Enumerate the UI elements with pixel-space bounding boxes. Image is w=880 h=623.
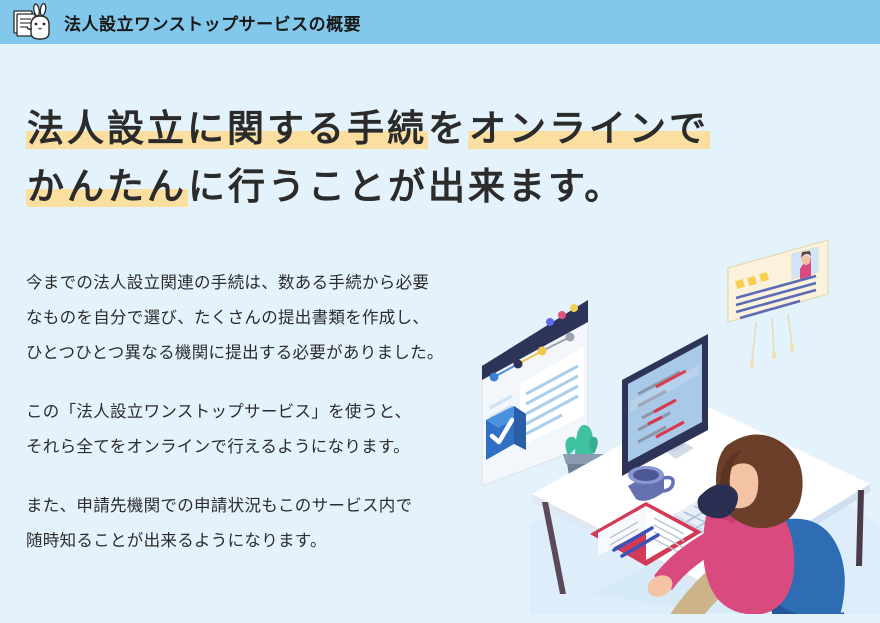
headline-plain-1: を <box>428 108 468 149</box>
header-title: 法人設立ワンストップサービスの概要 <box>64 10 361 35</box>
paragraph-3: また、申請先機関での申請状況もこのサービス内で 随時知ることが出来るようになりま… <box>26 489 496 559</box>
headline-line-1: 法人設立に関する手続をオンラインで <box>26 100 726 158</box>
paragraph-2-line-2: それら全てをオンラインで行えるようになります。 <box>26 430 496 465</box>
paragraph-3-line-2: 随時知ることが出来るようになります。 <box>26 524 496 559</box>
paragraph-1-line-1: 今までの法人設立関連の手続は、数ある手続から必要 <box>26 266 496 301</box>
paragraph-2: この「法人設立ワンストップサービス」を使うと、 それら全てをオンラインで行えるよ… <box>26 395 496 465</box>
headline-highlight-2: オンラインで <box>468 108 710 149</box>
isometric-woman-at-desk-illustration <box>470 194 880 614</box>
rabbit-mascot-icon <box>12 3 54 43</box>
header-bar: 法人設立ワンストップサービスの概要 <box>0 0 880 44</box>
paragraph-1: 今までの法人設立関連の手続は、数ある手続から必要 なものを自分で選び、たくさんの… <box>26 266 496 371</box>
body-copy: 今までの法人設立関連の手続は、数ある手続から必要 なものを自分で選び、たくさんの… <box>26 266 496 559</box>
headline-highlight-1: 法人設立に関する手続 <box>26 108 428 149</box>
paragraph-1-line-3: ひとつひとつ異なる機関に提出する必要がありました。 <box>26 336 496 371</box>
paragraph-2-line-1: この「法人設立ワンストップサービス」を使うと、 <box>26 395 496 430</box>
id-card <box>728 240 828 367</box>
headline-highlight-3: かんたん <box>26 166 188 207</box>
paragraph-1-line-2: なものを自分で選び、たくさんの提出書類を作成し、 <box>26 301 496 336</box>
page-content: 法人設立に関する手続をオンラインで かんたんに行うことが出来ます。 今までの法人… <box>0 44 880 623</box>
paragraph-3-line-1: また、申請先機関での申請状況もこのサービス内で <box>26 489 496 524</box>
